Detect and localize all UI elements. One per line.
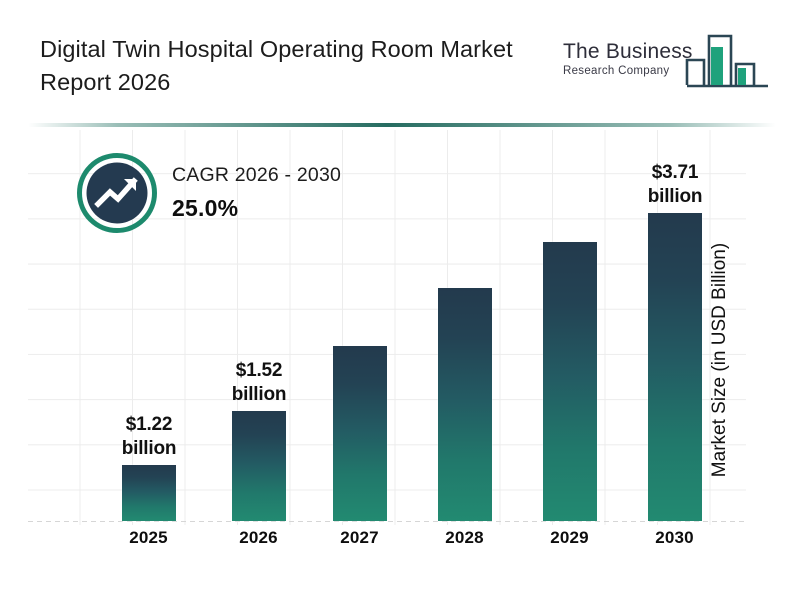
bar-value-amount-2025: $1.22 bbox=[126, 414, 173, 435]
y-axis: Market Size (in USD Billion) bbox=[700, 195, 740, 525]
company-logo: The Business Research Company bbox=[560, 28, 772, 100]
bar-value-unit-2026: billion bbox=[203, 383, 315, 407]
x-tick-2026: 2026 bbox=[206, 528, 311, 548]
bar-2025[interactable] bbox=[122, 465, 176, 521]
cagr-period-label: CAGR 2026 - 2030 bbox=[172, 164, 341, 187]
bar-2027[interactable] bbox=[333, 346, 387, 521]
x-tick-2025: 2025 bbox=[96, 528, 201, 548]
logo-line-2: Research Company bbox=[563, 65, 693, 77]
trending-up-icon bbox=[76, 152, 158, 234]
cagr-badge: CAGR 2026 - 2030 25.0% bbox=[76, 152, 406, 244]
header-divider bbox=[28, 123, 776, 127]
bar-value-unit-2025: billion bbox=[93, 437, 205, 461]
x-tick-2030: 2030 bbox=[622, 528, 727, 548]
cagr-value-label: 25.0% bbox=[172, 195, 341, 222]
y-axis-title: Market Size (in USD Billion) bbox=[709, 243, 731, 477]
page-title: Digital Twin Hospital Operating Room Mar… bbox=[40, 33, 560, 99]
x-tick-2029: 2029 bbox=[517, 528, 622, 548]
bar-2029[interactable] bbox=[543, 242, 597, 521]
logo-wordmark: The Business Research Company bbox=[563, 40, 693, 77]
chart-canvas: Digital Twin Hospital Operating Room Mar… bbox=[0, 0, 800, 600]
cagr-text-block: CAGR 2026 - 2030 25.0% bbox=[172, 164, 341, 222]
bar-2028[interactable] bbox=[438, 288, 492, 521]
bar-value-label-2026: $1.52 billion bbox=[203, 359, 315, 407]
bar-value-label-2025: $1.22 billion bbox=[93, 413, 205, 461]
bar-2026[interactable] bbox=[232, 411, 286, 521]
bar-2030[interactable] bbox=[648, 213, 702, 521]
bar-chart-logo-mark-icon bbox=[684, 30, 770, 99]
x-tick-2027: 2027 bbox=[307, 528, 412, 548]
bar-value-amount-2026: $1.52 bbox=[236, 360, 283, 381]
header: Digital Twin Hospital Operating Room Mar… bbox=[0, 0, 800, 120]
bar-value-amount-2030: $3.71 bbox=[652, 162, 699, 183]
logo-line-1: The Business bbox=[563, 40, 693, 64]
x-tick-2028: 2028 bbox=[412, 528, 517, 548]
x-axis: 2025 2026 2027 2028 2029 2030 bbox=[28, 528, 746, 558]
